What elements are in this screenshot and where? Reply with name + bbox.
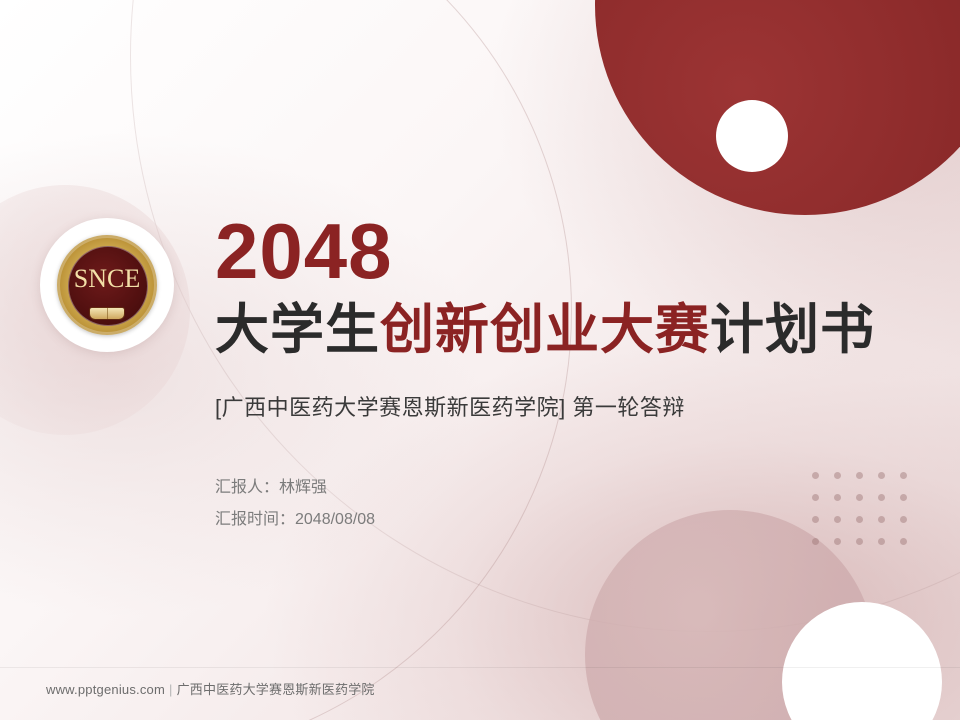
meta-block: 汇报人：林辉强 汇报时间：2048/08/08 (215, 472, 915, 536)
footer: www.pptgenius.com|广西中医药大学赛恩斯新医药学院 (46, 679, 375, 698)
date-line: 汇报时间：2048/08/08 (215, 504, 915, 536)
footer-site-link[interactable]: www.pptgenius.com (46, 682, 165, 697)
title-part-2: 计划书 (710, 300, 875, 360)
presentation-slide: SNCE 2048 大学生创新创业大赛计划书 [广西中医药大学赛恩斯新医药学院]… (0, 0, 960, 720)
university-emblem-icon: SNCE (57, 235, 157, 335)
title-block: 2048 大学生创新创业大赛计划书 [广西中医药大学赛恩斯新医药学院] 第一轮答… (215, 212, 915, 536)
page-subtitle: [广西中医药大学赛恩斯新医药学院] 第一轮答辩 (215, 390, 915, 422)
footer-org: 广西中医药大学赛恩斯新医药学院 (177, 682, 375, 697)
footer-divider: | (169, 682, 173, 697)
page-title: 大学生创新创业大赛计划书 (215, 300, 915, 360)
footer-divider-line (0, 667, 960, 668)
decorative-white-dot (716, 100, 788, 172)
emblem-monogram: SNCE (74, 264, 140, 294)
title-part-1: 大学生 (215, 300, 380, 360)
emblem-book-icon (90, 308, 124, 319)
year-label: 2048 (215, 212, 915, 290)
title-highlight: 创新创业大赛 (380, 300, 710, 360)
presenter-line: 汇报人：林辉强 (215, 472, 915, 504)
